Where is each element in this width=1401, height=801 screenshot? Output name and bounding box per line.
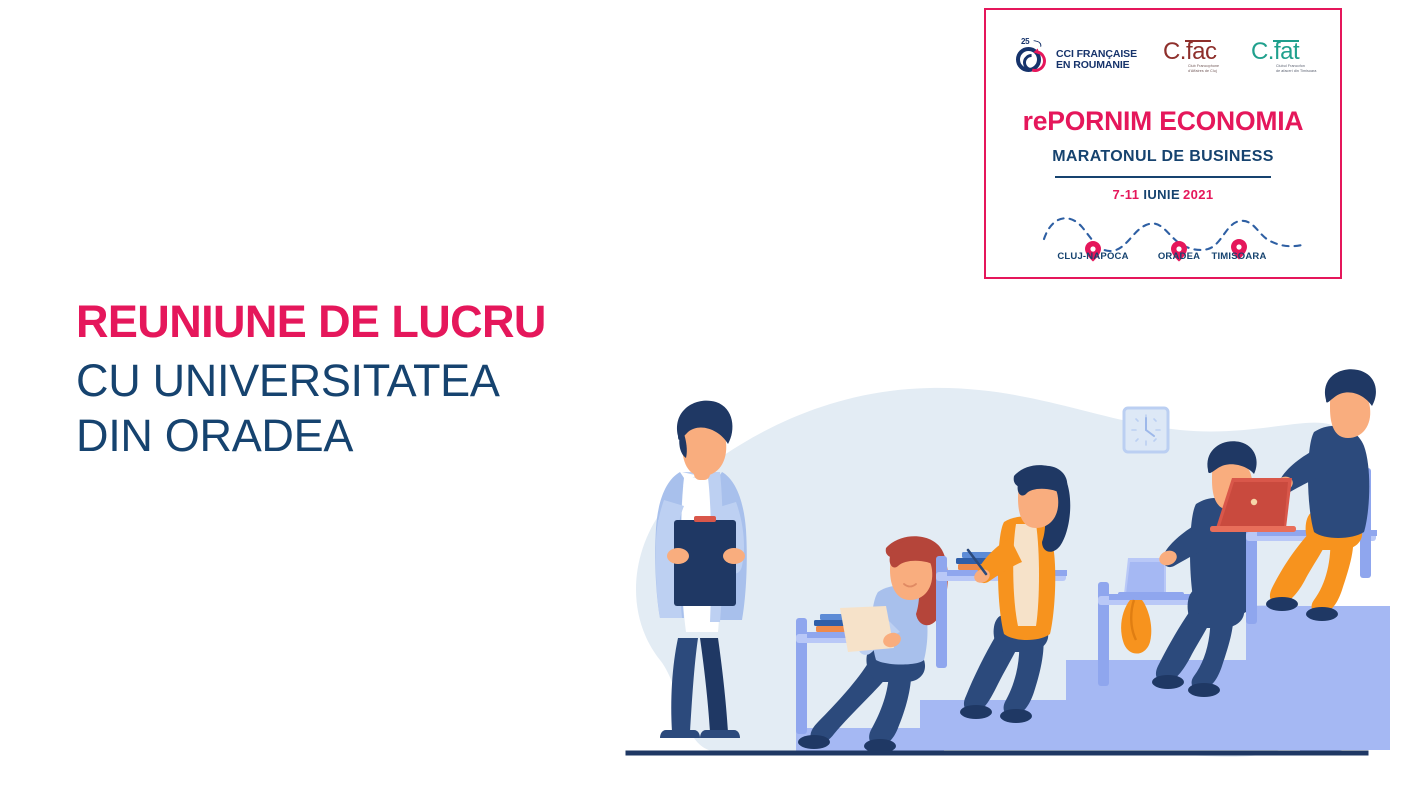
c-fac-wordmark: C.fac	[1163, 38, 1217, 66]
c-fat-subtitle: Clubul Francofon de afaceri din Timisoar…	[1276, 64, 1317, 75]
c-fat-wordmark: C.fat	[1251, 38, 1299, 66]
event-route-map: CLUJ-NAPOCA ORADEA TIMISOARA	[986, 207, 1340, 279]
slide-canvas: 25 CCI FRANÇAISE EN ROUMANIE C.fac Club …	[0, 0, 1401, 801]
c-fac-subtitle: Club Francophone d'Affaires de Cluj	[1188, 64, 1219, 75]
headline-line-1: REUNIUNE DE LUCRU	[76, 296, 716, 348]
c-fac-rule	[1185, 40, 1211, 42]
cci-francaise-en-roumanie-logo: 25 CCI FRANÇAISE EN ROUMANIE	[1013, 38, 1137, 78]
event-subtitle: MARATONUL DE BUSINESS	[986, 148, 1340, 166]
city-label-oradea: ORADEA	[1158, 251, 1200, 262]
city-label-cluj-napoca: CLUJ-NAPOCA	[1057, 251, 1128, 262]
cci-emblem-icon: 25	[1013, 38, 1053, 78]
event-logo-badge: 25 CCI FRANÇAISE EN ROUMANIE C.fac Club …	[984, 8, 1342, 279]
lecture-hall-illustration	[600, 360, 1390, 780]
event-date-year: 2021	[1183, 187, 1214, 202]
cci-anniversary-number: 25	[1021, 37, 1029, 46]
city-label-timisoara: TIMISOARA	[1211, 251, 1266, 262]
c-fat-logo: C.fat Clubul Francofon de afaceri din Ti…	[1251, 36, 1313, 80]
c-fat-rule	[1273, 40, 1299, 42]
event-date-range: 7-11	[1112, 187, 1139, 202]
event-date: 7-11IUNIE2021	[986, 187, 1340, 202]
cci-wordmark-line2: EN ROUMANIE	[1056, 60, 1137, 71]
event-date-month: IUNIE	[1143, 187, 1180, 202]
event-title: rePORNIM ECONOMIA	[986, 106, 1340, 137]
cci-anniversary-arc-icon	[1033, 40, 1043, 47]
badge-divider	[1055, 176, 1271, 178]
partner-logos-row: 25 CCI FRANÇAISE EN ROUMANIE C.fac Club …	[986, 32, 1340, 84]
c-fac-logo: C.fac Club Francophone d'Affaires de Clu…	[1163, 36, 1225, 80]
wall-clock-icon	[1124, 408, 1168, 452]
cci-wordmark: CCI FRANÇAISE EN ROUMANIE	[1056, 49, 1137, 71]
